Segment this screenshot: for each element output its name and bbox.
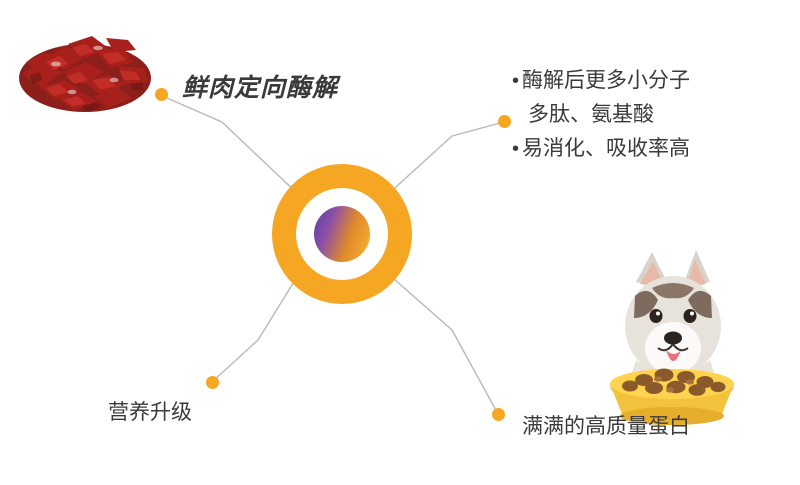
bullet-marker-icon: • xyxy=(512,64,522,98)
benefit-line-2: 多肽、氨基酸 xyxy=(512,98,690,132)
node-dot-meat xyxy=(155,88,168,101)
center-ring-core xyxy=(314,206,370,262)
bullet-marker-icon: • xyxy=(512,132,522,166)
node-label-nutrition: 营养升级 xyxy=(108,396,192,426)
benefit-text-3: 易消化、吸收率高 xyxy=(522,132,690,166)
infographic-canvas: 鲜肉定向酶解 •酶解后更多小分子 多肽、氨基酸 •易消化、吸收率高 营养升级 满… xyxy=(0,0,800,485)
node-dot-protein xyxy=(492,408,505,421)
benefit-text-2: 多肽、氨基酸 xyxy=(528,98,654,132)
node-label-protein: 满满的高质量蛋白 xyxy=(522,410,690,440)
center-ring xyxy=(272,164,412,304)
benefit-text-1: 酶解后更多小分子 xyxy=(522,64,690,98)
benefit-line-3: •易消化、吸收率高 xyxy=(512,132,690,166)
image-raw-meat xyxy=(10,18,160,118)
node-benefits-list: •酶解后更多小分子 多肽、氨基酸 •易消化、吸收率高 xyxy=(512,64,690,166)
node-label-meat: 鲜肉定向酶解 xyxy=(182,68,338,104)
benefit-line-1: •酶解后更多小分子 xyxy=(512,64,690,98)
node-dot-benefits xyxy=(498,115,511,128)
image-dog-bowl xyxy=(540,248,770,428)
node-dot-nutrition xyxy=(206,376,219,389)
